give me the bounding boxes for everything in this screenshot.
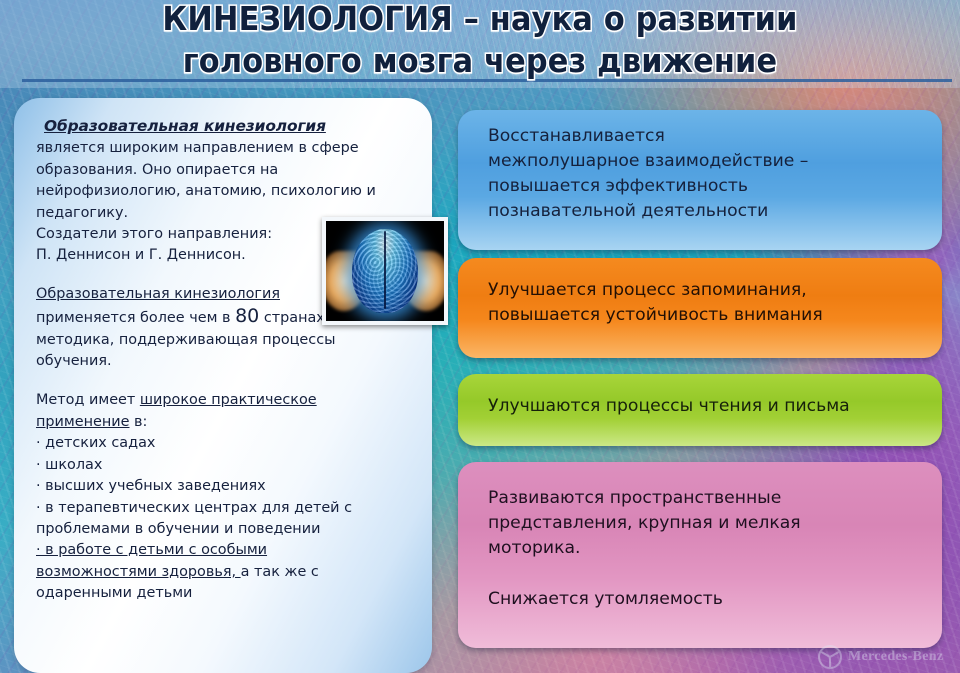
brain-in-hands-image xyxy=(322,217,448,325)
left-panel-text: Образовательная кинезиология является ши… xyxy=(36,116,410,605)
card-spatial-motor-part1: Развиваются пространственные представлен… xyxy=(488,488,801,558)
card-spatial-motor-part2: Снижается утомляемость xyxy=(488,589,723,609)
watermark-label: Mercedes-Benz xyxy=(848,649,943,665)
paragraph-spacer-2 xyxy=(36,372,410,389)
mercedes-benz-watermark: Mercedes-Benz xyxy=(818,645,943,669)
application-list: детских садах школах высших учебных заве… xyxy=(36,433,410,604)
list-item: школах xyxy=(36,455,410,476)
card-restores-interaction: Восстанавливается межполушарное взаимоде… xyxy=(458,110,942,250)
list-item: высших учебных заведениях xyxy=(36,476,410,497)
paragraph-3-after: в: xyxy=(129,414,147,430)
presentation-slide: КИНЕЗИОЛОГИЯ – наука о развитии головног… xyxy=(0,0,960,673)
list-item: в терапевтических центрах для детей с пр… xyxy=(36,498,410,541)
card-memory-attention: Улучшается процесс запоминания, повышает… xyxy=(458,258,942,358)
paragraph-3-before: Метод имеет xyxy=(36,392,140,408)
special-needs-underlined: · в работе с детьми с особыми возможност… xyxy=(36,542,267,579)
list-item: детских садах xyxy=(36,433,410,454)
mercedes-star-icon xyxy=(818,645,842,669)
panel-heading-1: Образовательная кинезиология xyxy=(36,116,410,137)
paragraph-2-before: применяется более чем в xyxy=(36,310,235,326)
left-content-panel: Образовательная кинезиология является ши… xyxy=(14,98,432,673)
countries-count: 80 xyxy=(235,305,259,327)
card-reading-writing: Улучшаются процессы чтения и письма xyxy=(458,374,942,446)
page-title: КИНЕЗИОЛОГИЯ – наука о развитии головног… xyxy=(38,0,921,82)
panel-paragraph-3: Метод имеет широкое практическое примене… xyxy=(36,390,410,433)
card-inner-spacer xyxy=(488,561,922,587)
list-item-special-needs: · в работе с детьми с особыми возможност… xyxy=(36,540,410,604)
card-spatial-motor: Развиваются пространственные представлен… xyxy=(458,462,942,648)
brain-fissure-line xyxy=(384,231,386,309)
